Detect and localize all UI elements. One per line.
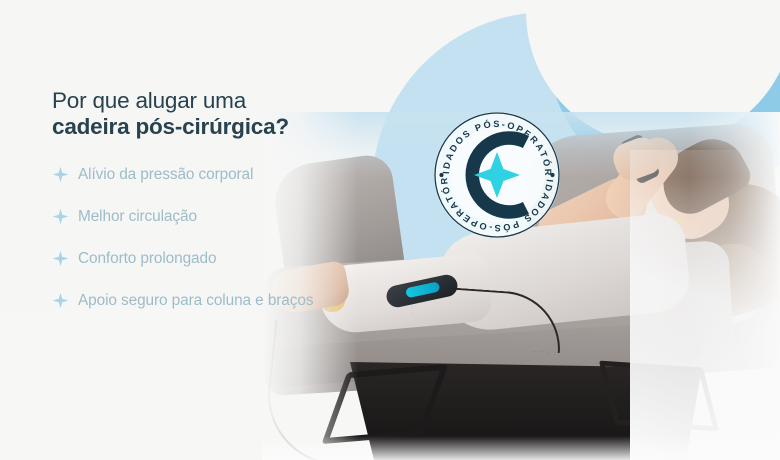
benefits-list: Alívio da pressão corporal Melhor circul… xyxy=(52,165,352,310)
list-item: Alívio da pressão corporal xyxy=(52,165,352,184)
promo-banner: CUIDADOS PÓS-OPERATÓRIO CUIDADOS PÓS-OPE… xyxy=(0,0,780,460)
list-item: Melhor circulação xyxy=(52,207,352,226)
sparkle-icon xyxy=(52,208,69,225)
sparkle-icon xyxy=(52,166,69,183)
remote-screen xyxy=(405,281,440,298)
text-column: Por que alugar uma cadeira pós-cirúrgica… xyxy=(52,88,352,310)
list-item: Conforto prolongado xyxy=(52,249,352,268)
sparkle-icon xyxy=(52,292,69,309)
sparkle-icon xyxy=(52,250,69,267)
page-title: Por que alugar uma cadeira pós-cirúrgica… xyxy=(52,88,352,139)
benefit-label: Apoio seguro para coluna e braços xyxy=(78,291,313,310)
brand-badge: CUIDADOS PÓS-OPERATÓRIO CUIDADOS PÓS-OPE… xyxy=(430,108,564,242)
headline-line-1: Por que alugar uma xyxy=(52,88,352,114)
badge-dot-left xyxy=(439,173,443,177)
background-right-wash xyxy=(630,150,780,460)
benefit-label: Conforto prolongado xyxy=(78,249,216,268)
headline-line-2: cadeira pós-cirúrgica? xyxy=(52,114,352,140)
list-item: Apoio seguro para coluna e braços xyxy=(52,291,352,310)
benefit-label: Alívio da pressão corporal xyxy=(78,165,253,184)
benefit-label: Melhor circulação xyxy=(78,207,197,226)
badge-dot-right xyxy=(550,173,554,177)
